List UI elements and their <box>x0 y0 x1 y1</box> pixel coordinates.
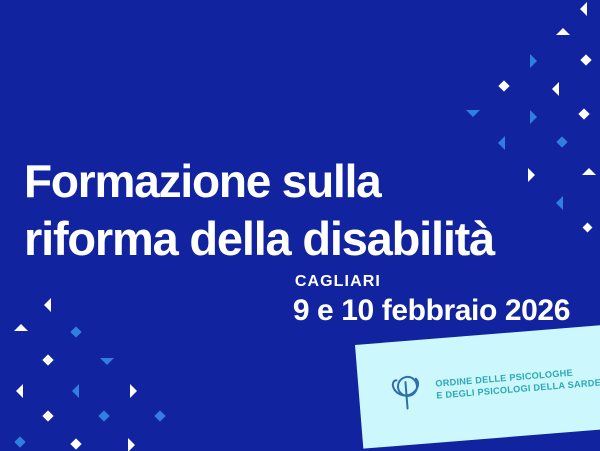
psi-circle-icon <box>387 372 424 413</box>
diamond-white-4-icon <box>583 223 593 233</box>
event-city: CAGLIARI <box>293 272 570 292</box>
event-meta: CAGLIARI 9 e 10 febbraio 2026 <box>293 272 570 330</box>
diamond-blue-2-icon <box>70 326 81 337</box>
tri-down-blue-icon <box>466 110 480 117</box>
tri-down-blue-2-icon <box>100 358 114 365</box>
diamond-white-7-icon <box>70 438 81 449</box>
diamond-white-5-icon <box>42 354 53 365</box>
tri-left-blue-icon <box>498 136 505 150</box>
promo-poster: Formazione sulla riforma della disabilit… <box>0 0 600 451</box>
tri-right-blue-2-icon <box>530 110 537 124</box>
logo-panel: ORDINE DELLE PSICOLOGHE E DEGLI PSICOLOG… <box>355 319 600 449</box>
tri-right-blue-icon <box>530 54 537 68</box>
diamond-white-2-icon <box>498 80 509 91</box>
tri-up-white-2-icon <box>582 168 596 175</box>
headline-line-1: Formazione sulla <box>24 155 381 207</box>
tri-left-white-icon <box>580 2 587 16</box>
tri-left-blue-3-icon <box>72 384 79 398</box>
headline-line-2: riforma della disabilità <box>24 210 584 268</box>
diamond-white-1-icon <box>580 54 591 65</box>
tri-up-white-icon <box>556 28 570 35</box>
tri-left-white-2-icon <box>552 82 559 96</box>
tri-left-white-3-icon <box>44 298 51 312</box>
tri-right-white-3-icon <box>128 438 135 451</box>
tri-right-white-2-icon <box>130 384 137 398</box>
diamond-blue-5-icon <box>14 436 25 447</box>
logo-lockup: ORDINE DELLE PSICOLOGHE E DEGLI PSICOLOG… <box>387 356 600 413</box>
diamond-white-3-icon <box>578 108 589 119</box>
tri-left-white-4-icon <box>16 384 23 398</box>
diamond-blue-3-icon <box>98 410 109 421</box>
page-title: Formazione sulla riforma della disabilit… <box>24 152 584 268</box>
tri-up-white-3-icon <box>14 324 28 331</box>
diamond-blue-4-icon <box>154 410 165 421</box>
logo-wordmark: ORDINE DELLE PSICOLOGHE E DEGLI PSICOLOG… <box>435 363 600 402</box>
diamond-blue-1-icon <box>556 136 567 147</box>
diamond-white-6-icon <box>42 410 53 421</box>
event-date: 9 e 10 febbraio 2026 <box>293 292 570 330</box>
